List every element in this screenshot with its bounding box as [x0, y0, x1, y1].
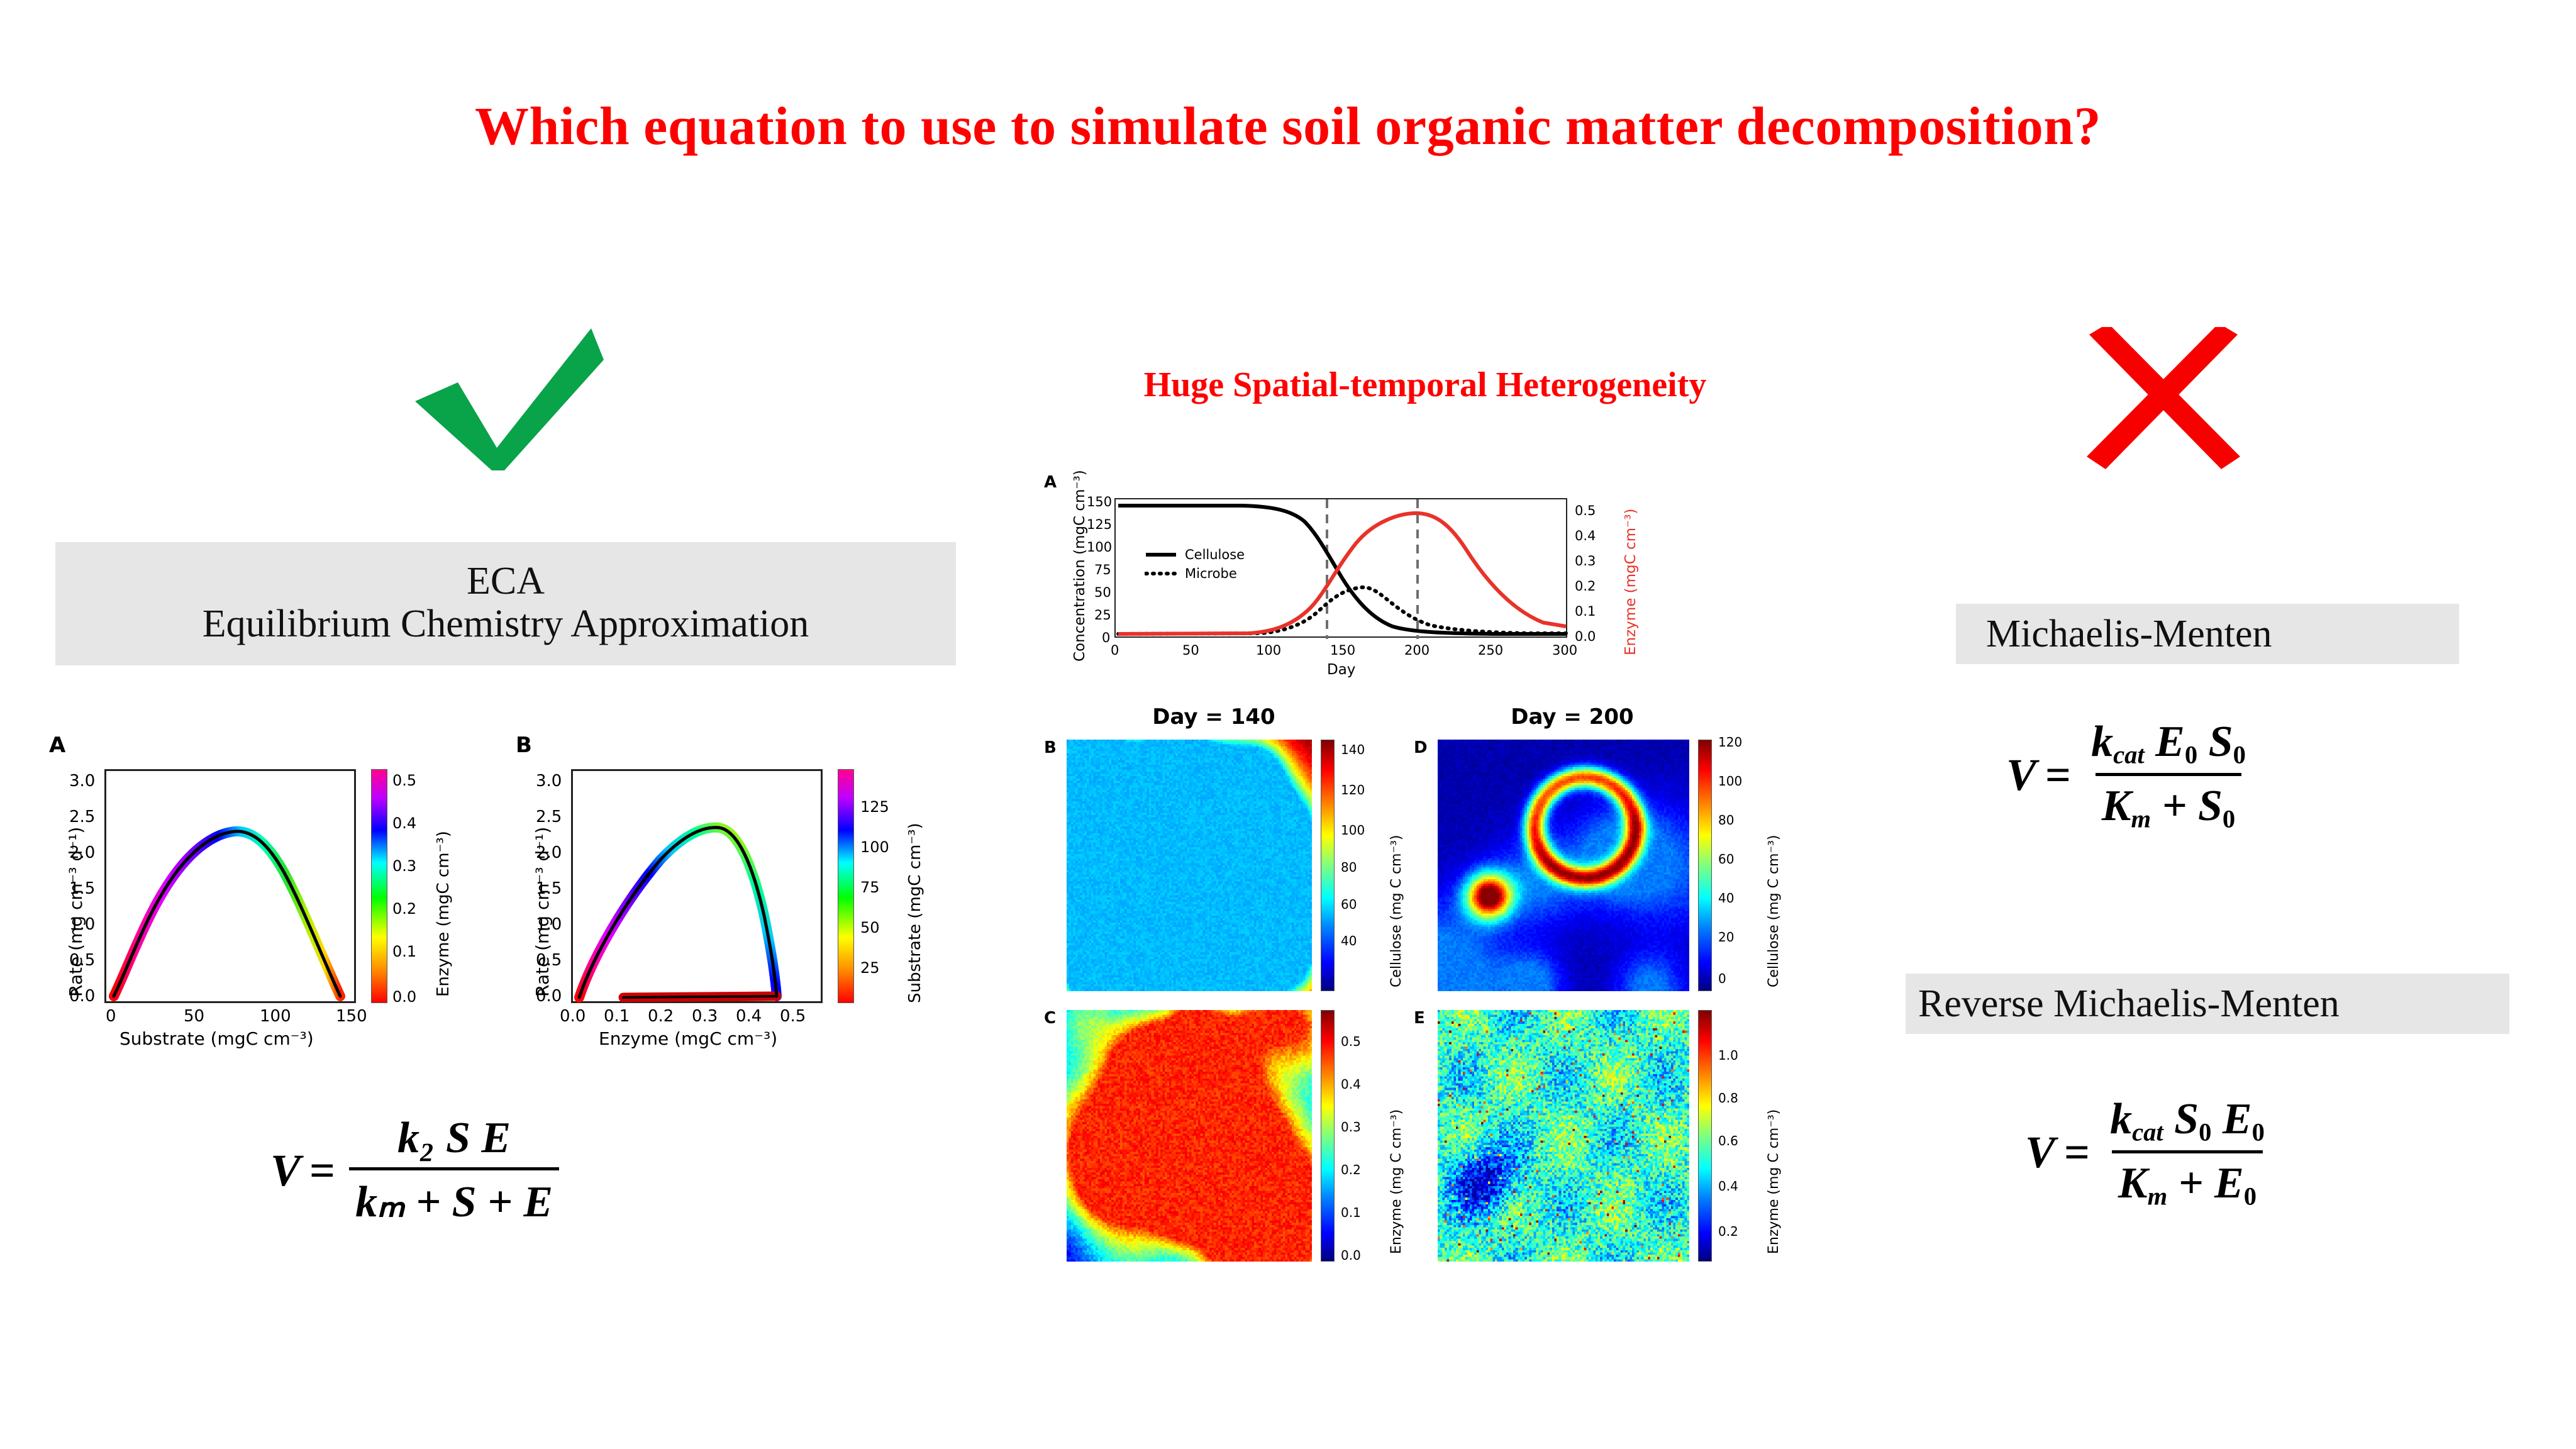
heatmap-cellulose-day200 — [1438, 740, 1689, 991]
heatmap-cellulose-day140 — [1067, 740, 1312, 991]
colorbar-tick-label: 100 — [860, 838, 889, 856]
colorbar-tick-label: 100 — [1341, 823, 1365, 838]
x-axis-label: Day — [1327, 662, 1355, 678]
x-tick-label: 0.3 — [692, 1007, 718, 1026]
panel-letter-c: C — [1044, 1009, 1056, 1028]
x-tick-label: 50 — [1182, 643, 1199, 658]
equation-numerator: k₂ S E — [391, 1113, 517, 1167]
chart-eca-b: B 3.0 2.5 2.0 1.5 1.0 0.5 0.0 — [511, 733, 963, 1047]
colorbar-tick-label: 0.6 — [1718, 1133, 1738, 1148]
michaelis-menten-equation: V = kcat E0 S0 Km + S0 — [2006, 717, 2252, 834]
x-tick-label: 0.4 — [736, 1007, 762, 1026]
colorbar-tick-label: 80 — [1341, 860, 1357, 875]
chart-center-d: D 120 100 80 60 40 20 0 Cellulose (mg C … — [1414, 737, 1804, 1001]
equation-fraction: kcat E0 S0 Km + S0 — [2085, 717, 2252, 834]
colorbar-tick-label: 0.4 — [1718, 1179, 1738, 1194]
colorbar-tick-label: 0.3 — [1341, 1119, 1361, 1135]
y2-tick-label: 0.1 — [1575, 604, 1596, 619]
equation-equals: = — [309, 1145, 335, 1197]
y-axis-label: Rate (mg cm⁻³ d⁻¹) — [532, 827, 553, 997]
colorbar-tick-label: 125 — [860, 798, 889, 816]
x-axis-label: Enzyme (mgC cm⁻³) — [599, 1028, 777, 1049]
x-tick-label: 100 — [260, 1007, 291, 1026]
y2-tick-label: 0.5 — [1575, 503, 1596, 518]
colorbar — [1321, 740, 1335, 991]
cross-mark-icon — [2075, 327, 2251, 472]
day-200-title: Day = 200 — [1446, 704, 1698, 730]
equation-equals: = — [2064, 1126, 2090, 1179]
colorbar-tick-label: 0.8 — [1718, 1091, 1738, 1106]
eca-title-line1: ECA — [467, 561, 545, 602]
colorbar-tick-label: 0.0 — [1341, 1248, 1361, 1263]
page-title: Which equation to use to simulate soil o… — [0, 94, 2576, 157]
colorbar-tick-label: 140 — [1341, 742, 1365, 757]
colorbar-tick-label: 0.5 — [1341, 1034, 1361, 1049]
y-tick-label: 25 — [1094, 608, 1111, 623]
legend-label: Microbe — [1185, 566, 1237, 581]
colorbar-tick-label: 0.4 — [1341, 1077, 1361, 1092]
colorbar-label: Substrate (mgC cm⁻³) — [906, 823, 924, 1003]
reverse-michaelis-menten-label: Reverse Michaelis-Menten — [1918, 982, 2340, 1026]
x-tick-label: 200 — [1404, 643, 1430, 658]
colorbar-tick-label: 60 — [1341, 897, 1357, 912]
colorbar — [1698, 740, 1712, 991]
colorbar-tick-label: 60 — [1718, 852, 1734, 867]
chart-eca-a: A 3.0 2.5 2.0 1.5 1.0 0.5 0.0 — [44, 733, 484, 1047]
equation-lhs: V — [2006, 749, 2036, 801]
y-tick-label: 2.5 — [69, 808, 95, 826]
equation-numerator: kcat S0 E0 — [2104, 1094, 2271, 1150]
colorbar-label: Cellulose (mg C cm⁻³) — [1389, 835, 1404, 988]
colorbar-tick-label: 25 — [860, 959, 880, 977]
colorbar-label: Cellulose (mg C cm⁻³) — [1766, 835, 1782, 988]
panel-letter-b: B — [516, 733, 532, 758]
colorbar — [838, 769, 854, 1003]
y2-axis-label: Enzyme (mgC cm⁻³) — [1623, 509, 1639, 655]
heatmap-enzyme-day140 — [1067, 1010, 1312, 1262]
day-140-title: Day = 140 — [1088, 704, 1340, 730]
y-axis-label: Rate (mg cm⁻³ d⁻¹) — [65, 827, 86, 997]
equation-denominator: kₘ + S + E — [349, 1167, 559, 1228]
michaelis-menten-plate: Michaelis-Menten — [1956, 604, 2459, 664]
equation-lhs: V — [2025, 1126, 2055, 1179]
x-axis-label: Substrate (mgC cm⁻³) — [119, 1028, 314, 1049]
x-tick-label: 0.5 — [780, 1007, 806, 1026]
y-axis-label: Concentration (mgC cm⁻³) — [1072, 470, 1088, 662]
x-tick-label: 0.0 — [560, 1007, 586, 1026]
heatmap-enzyme-day200 — [1438, 1010, 1689, 1262]
colorbar — [371, 769, 387, 1003]
colorbar-tick-label: 0.4 — [392, 814, 416, 832]
colorbar-tick-label: 0.2 — [1718, 1224, 1738, 1239]
equation-fraction: k₂ S E kₘ + S + E — [349, 1113, 559, 1228]
legend-line-solid-icon — [1145, 551, 1177, 558]
colorbar-tick-label: 100 — [1718, 774, 1742, 789]
reverse-michaelis-menten-equation: V = kcat S0 E0 Km + E0 — [2025, 1094, 2271, 1211]
y-tick-label: 100 — [1087, 540, 1112, 555]
x-tick-label: 150 — [336, 1007, 367, 1026]
panel-letter-b: B — [1044, 738, 1057, 757]
y2-tick-label: 0.0 — [1575, 629, 1596, 644]
heterogeneity-heading: Huge Spatial-temporal Heterogeneity — [985, 365, 1865, 405]
chart-legend: Cellulose Microbe — [1145, 547, 1245, 581]
equation-denominator: Km + S0 — [2096, 773, 2241, 833]
plot-area — [104, 769, 356, 1003]
x-tick-label: 0 — [1111, 643, 1119, 658]
colorbar-tick-label: 0.5 — [392, 772, 416, 789]
colorbar-tick-label: 0.1 — [1341, 1205, 1361, 1220]
colorbar-tick-label: 50 — [860, 919, 880, 936]
eca-equation: V = k₂ S E kₘ + S + E — [270, 1113, 559, 1228]
equation-denominator: Km + E0 — [2112, 1150, 2263, 1211]
plot-area — [571, 769, 823, 1003]
y-tick-label: 125 — [1087, 517, 1112, 532]
y-tick-label: 2.5 — [536, 808, 562, 826]
panel-letter-a: A — [49, 733, 65, 758]
x-tick-label: 150 — [1330, 643, 1355, 658]
michaelis-menten-label: Michaelis-Menten — [1986, 612, 2272, 657]
y-tick-label: 0 — [1102, 630, 1110, 645]
colorbar-tick-label: 0 — [1718, 971, 1726, 986]
y2-tick-label: 0.2 — [1575, 579, 1596, 594]
colorbar — [1321, 1010, 1335, 1262]
legend-label: Cellulose — [1185, 547, 1245, 562]
x-tick-label: 50 — [184, 1007, 204, 1026]
y-tick-label: 75 — [1094, 562, 1111, 577]
colorbar-tick-label: 120 — [1341, 782, 1365, 797]
legend-line-dotted-icon — [1145, 570, 1177, 577]
colorbar-tick-label: 80 — [1718, 813, 1734, 828]
chart-center-b: B 140 120 100 80 60 40 Cellulose (mg C c… — [1044, 737, 1409, 1001]
colorbar — [1698, 1010, 1712, 1262]
x-tick-label: 100 — [1256, 643, 1281, 658]
equation-equals: = — [2045, 749, 2071, 801]
colorbar-tick-label: 1.0 — [1718, 1048, 1738, 1063]
equation-lhs: V — [270, 1145, 301, 1197]
colorbar-tick-label: 0.3 — [392, 857, 416, 875]
colorbar-tick-label: 75 — [860, 879, 880, 896]
colorbar-tick-label: 0.2 — [1341, 1162, 1361, 1177]
colorbar-tick-label: 40 — [1718, 891, 1734, 906]
equation-numerator: kcat E0 S0 — [2085, 717, 2252, 773]
y2-tick-label: 0.3 — [1575, 553, 1596, 569]
colorbar-tick-label: 20 — [1718, 930, 1734, 945]
y2-tick-label: 0.4 — [1575, 528, 1596, 543]
colorbar-label: Enzyme (mg C cm⁻³) — [1389, 1109, 1404, 1254]
x-tick-label: 0.2 — [648, 1007, 674, 1026]
panel-letter-d: D — [1414, 738, 1428, 757]
y-tick-label: 3.0 — [69, 772, 95, 791]
x-tick-label: 0 — [106, 1007, 116, 1026]
eca-title-line2: Equilibrium Chemistry Approximation — [203, 602, 809, 647]
y-tick-label: 3.0 — [536, 772, 562, 791]
y-tick-label: 150 — [1087, 494, 1112, 509]
panel-letter-e: E — [1414, 1009, 1425, 1028]
eca-title-plate: ECA Equilibrium Chemistry Approximation — [55, 542, 956, 665]
colorbar-tick-label: 0.2 — [392, 900, 416, 918]
chart-center-c: C 0.5 0.4 0.3 0.2 0.1 0.0 Enzyme (mg C c… — [1044, 1008, 1409, 1272]
colorbar-label: Enzyme (mgC cm⁻³) — [434, 831, 453, 997]
colorbar-tick-label: 40 — [1341, 933, 1357, 948]
chart-center-e: E 1.0 0.8 0.6 0.4 0.2 Enzyme (mg C cm⁻³) — [1414, 1008, 1804, 1272]
y-tick-label: 50 — [1094, 585, 1111, 600]
colorbar-tick-label: 0.1 — [392, 943, 416, 960]
chart-center-a: A 150 125 100 75 50 25 0 Concentration (… — [1044, 473, 1830, 699]
panel-letter-a: A — [1044, 473, 1057, 492]
colorbar-tick-label: 120 — [1718, 735, 1742, 750]
check-mark-icon — [402, 327, 610, 472]
x-tick-label: 300 — [1552, 643, 1577, 658]
equation-fraction: kcat S0 E0 Km + E0 — [2104, 1094, 2271, 1211]
colorbar-tick-label: 0.0 — [392, 988, 416, 1006]
reverse-michaelis-menten-plate: Reverse Michaelis-Menten — [1906, 974, 2509, 1034]
x-tick-label: 0.1 — [604, 1007, 630, 1026]
colorbar-label: Enzyme (mg C cm⁻³) — [1766, 1109, 1782, 1254]
x-tick-label: 250 — [1478, 643, 1503, 658]
